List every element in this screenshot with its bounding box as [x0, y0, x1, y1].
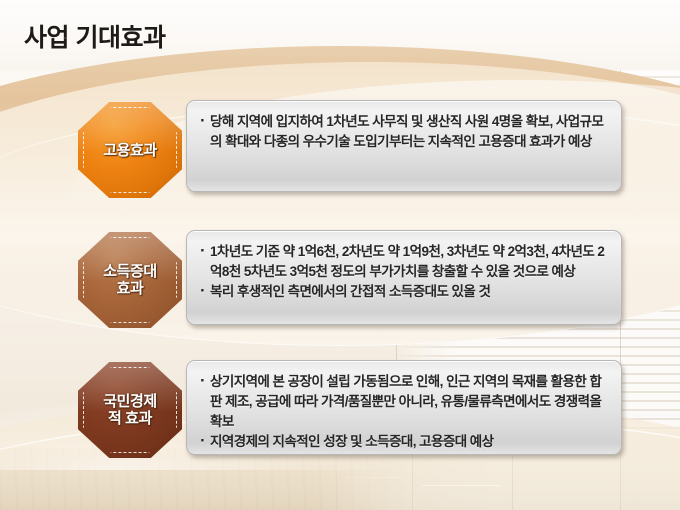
effect-row-income: 소득증대 효과 1차년도 기준 약 1억6천, 2차년도 약 1억9천, 3차년…	[0, 230, 680, 330]
text-panel-national-economy: 상기지역에 본 공장이 설립 가동됨으로 인해, 인근 지역의 목재를 활용한 …	[186, 360, 622, 455]
badge-octagon-income[interactable]: 소득증대 효과	[78, 232, 182, 328]
badge-label-line2: 적 효과	[108, 410, 152, 427]
text-panel-employment: 당해 지역에 입지하여 1차년도 사무직 및 생산직 사원 4명올 확보, 사업…	[186, 100, 622, 192]
badge-label-line1: 국민경제	[103, 393, 157, 410]
badge-label-national-economy: 국민경제 적 효과	[103, 393, 157, 427]
bullet-list-employment: 당해 지역에 입지하여 1차년도 사무직 및 생산직 사원 4명올 확보, 사업…	[199, 112, 609, 152]
badge-label-employment: 고용효과	[103, 142, 157, 159]
badge-label-line1: 고용효과	[103, 142, 157, 159]
bullet-item: 당해 지역에 입지하여 1차년도 사무직 및 생산직 사원 4명올 확보, 사업…	[199, 112, 609, 152]
text-panel-income: 1차년도 기준 약 1억6천, 2차년도 약 1억9천, 3차년도 약 2억3천…	[186, 230, 622, 325]
effect-row-national-economy: 국민경제 적 효과 상기지역에 본 공장이 설립 가동됨으로 인해, 인근 지역…	[0, 360, 680, 460]
bullet-item: 상기지역에 본 공장이 설립 가동됨으로 인해, 인근 지역의 목재를 활용한 …	[199, 372, 609, 432]
badge-label-income: 소득증대 효과	[103, 263, 157, 297]
effect-row-employment: 고용효과 당해 지역에 입지하여 1차년도 사무직 및 생산직 사원 4명올 확…	[0, 100, 680, 200]
bullet-item: 1차년도 기준 약 1억6천, 2차년도 약 1억9천, 3차년도 약 2억3천…	[199, 242, 609, 282]
badge-label-line1: 소득증대	[103, 263, 157, 280]
badge-octagon-national-economy[interactable]: 국민경제 적 효과	[78, 362, 182, 458]
badge-label-line2: 효과	[117, 280, 144, 297]
bullet-item: 지역경제의 지속적인 성장 및 소득증대, 고용증대 예상	[199, 432, 609, 452]
badge-octagon-employment[interactable]: 고용효과	[78, 102, 182, 198]
page-title: 사업 기대효과	[24, 18, 165, 54]
bullet-item: 복리 후생적인 측면에서의 간접적 소득증대도 있올 것	[199, 282, 609, 302]
bullet-list-national-economy: 상기지역에 본 공장이 설립 가동됨으로 인해, 인근 지역의 목재를 활용한 …	[199, 372, 609, 452]
slide-canvas: 사업 기대효과 고용효과 당해 지역에 입지하여 1차년도 사무직 및 생산직 …	[0, 0, 680, 510]
bullet-list-income: 1차년도 기준 약 1억6천, 2차년도 약 1억9천, 3차년도 약 2억3천…	[199, 242, 609, 302]
